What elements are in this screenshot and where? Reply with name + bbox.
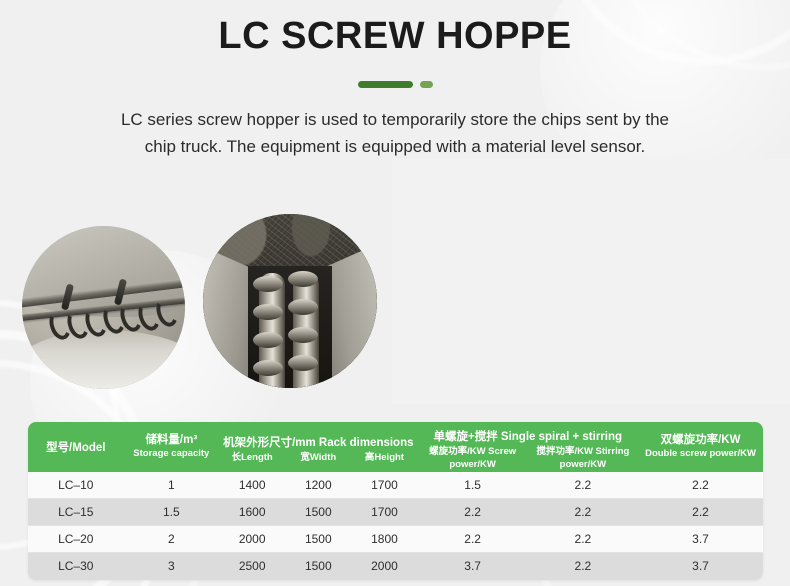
- cell-height: 1800: [351, 526, 417, 553]
- media-gallery: [0, 169, 790, 409]
- divider-dot: [420, 81, 433, 88]
- col-header-stirring-power: 搅拌功率/KW Stirring power/KW: [528, 446, 638, 472]
- cell-height: 1700: [351, 472, 417, 499]
- twin-screw-chips-photo: [203, 214, 377, 388]
- cell-model: LC–20: [28, 526, 124, 553]
- cell-screw-power: 2.2: [418, 526, 528, 553]
- cell-length: 1600: [219, 499, 285, 526]
- cell-screw-power: 3.7: [418, 553, 528, 580]
- cell-storage: 2: [124, 526, 220, 553]
- cell-stirring-power: 2.2: [528, 499, 638, 526]
- description-line-2: chip truck. The equipment is equipped wi…: [145, 137, 646, 156]
- col-header-model: 型号/Model: [28, 422, 124, 472]
- cell-double-screw-power: 2.2: [638, 499, 763, 526]
- cell-screw-power: 2.2: [418, 499, 528, 526]
- cell-storage: 1.5: [124, 499, 220, 526]
- cell-double-screw-power: 3.7: [638, 526, 763, 553]
- table-head: 型号/Model 储料量/m³ Storage capacity 机架外形尺寸/…: [28, 422, 763, 472]
- divider-bar: [358, 81, 413, 88]
- title-divider: [0, 81, 790, 88]
- cell-length: 1400: [219, 472, 285, 499]
- page-description: LC series screw hopper is used to tempor…: [0, 106, 790, 161]
- cell-double-screw-power: 3.7: [638, 553, 763, 580]
- specification-table-wrapper: 型号/Model 储料量/m³ Storage capacity 机架外形尺寸/…: [28, 422, 763, 580]
- table-row: LC–2022000150018002.22.23.7: [28, 526, 763, 553]
- specification-table: 型号/Model 储料量/m³ Storage capacity 机架外形尺寸/…: [28, 422, 763, 580]
- cell-model: LC–10: [28, 472, 124, 499]
- cell-height: 2000: [351, 553, 417, 580]
- cell-stirring-power: 2.2: [528, 553, 638, 580]
- cell-width: 1200: [285, 472, 351, 499]
- cell-model: LC–15: [28, 499, 124, 526]
- cell-stirring-power: 2.2: [528, 472, 638, 499]
- cell-stirring-power: 2.2: [528, 526, 638, 553]
- table-row: LC–1011400120017001.52.22.2: [28, 472, 763, 499]
- table-body: LC–1011400120017001.52.22.2LC–151.516001…: [28, 472, 763, 580]
- table-row: LC–3032500150020003.72.23.7: [28, 553, 763, 580]
- table-header-row: 型号/Model 储料量/m³ Storage capacity 机架外形尺寸/…: [28, 422, 763, 472]
- screw-conveyor-photo: [22, 226, 185, 389]
- col-header-width: 宽Width: [285, 452, 351, 465]
- col-header-length: 长Length: [219, 452, 285, 465]
- page-title: LC SCREW HOPPE: [0, 0, 790, 60]
- cell-storage: 3: [124, 553, 220, 580]
- cell-length: 2500: [219, 553, 285, 580]
- product-photo: [392, 159, 790, 404]
- cell-storage: 1: [124, 472, 220, 499]
- description-line-1: LC series screw hopper is used to tempor…: [121, 110, 669, 129]
- col-header-storage: 储料量/m³ Storage capacity: [124, 422, 220, 472]
- table-row: LC–151.51600150017002.22.22.2: [28, 499, 763, 526]
- col-header-double-screw-power: 双螺旋功率/KW Double screw power/KW: [638, 422, 763, 472]
- cell-height: 1700: [351, 499, 417, 526]
- cell-width: 1500: [285, 553, 351, 580]
- cell-length: 2000: [219, 526, 285, 553]
- col-header-single-spiral-stirring: 单螺旋+搅拌 Single spiral + stirring 螺旋功率/KW …: [418, 422, 639, 472]
- product-spec-page: LC SCREW HOPPE LC series screw hopper is…: [0, 0, 790, 586]
- cell-screw-power: 1.5: [418, 472, 528, 499]
- cell-model: LC–30: [28, 553, 124, 580]
- col-header-rack-dimensions: 机架外形尺寸/mm Rack dimensions 长Length 宽Width…: [219, 422, 417, 472]
- cell-width: 1500: [285, 499, 351, 526]
- col-header-screw-power: 螺旋功率/KW Screw power/KW: [418, 446, 528, 472]
- col-header-height: 高Height: [351, 452, 417, 465]
- cell-double-screw-power: 2.2: [638, 472, 763, 499]
- cell-width: 1500: [285, 526, 351, 553]
